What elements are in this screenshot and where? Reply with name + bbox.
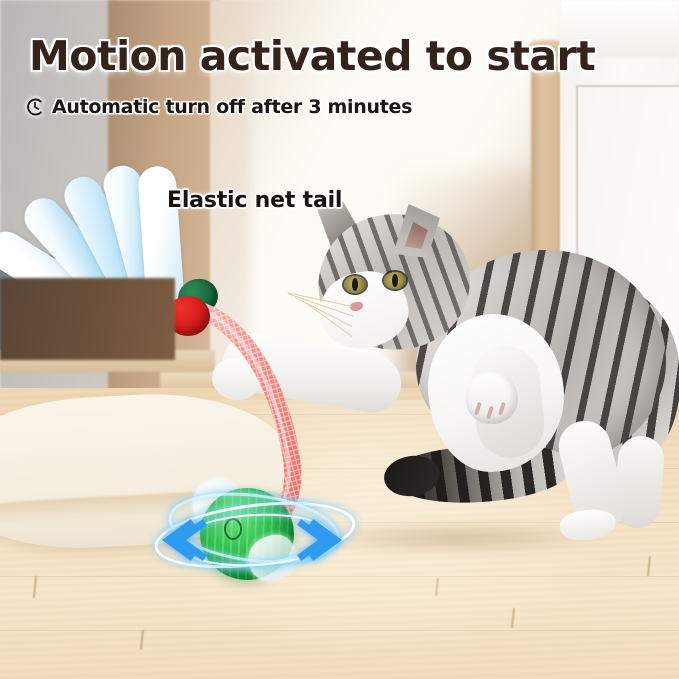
cat-pupil <box>352 278 358 291</box>
auto-off-callout: Automatic turn off after 3 minutes <box>25 96 412 118</box>
cat-hind-paw <box>558 506 618 544</box>
feature-label-elastic-net-tail: Elastic net tail <box>167 188 342 213</box>
cat-raised-paw <box>466 372 518 424</box>
cat-claw <box>474 402 482 416</box>
cat-eye-left <box>344 276 366 293</box>
cat-claw <box>486 406 494 420</box>
auto-off-text: Automatic turn off after 3 minutes <box>52 96 412 118</box>
cat-eye-right <box>384 272 406 289</box>
motion-arrows <box>152 478 352 588</box>
product-lifestyle-image: Motion activated to start Automatic turn… <box>0 0 679 679</box>
dark-recess <box>0 278 175 360</box>
page-title: Motion activated to start <box>29 32 595 80</box>
automatic-rolling-ball <box>152 478 352 588</box>
cat <box>298 198 679 558</box>
cat-claw <box>498 402 506 416</box>
clock-icon <box>25 97 45 117</box>
cat-pupil <box>392 274 398 287</box>
